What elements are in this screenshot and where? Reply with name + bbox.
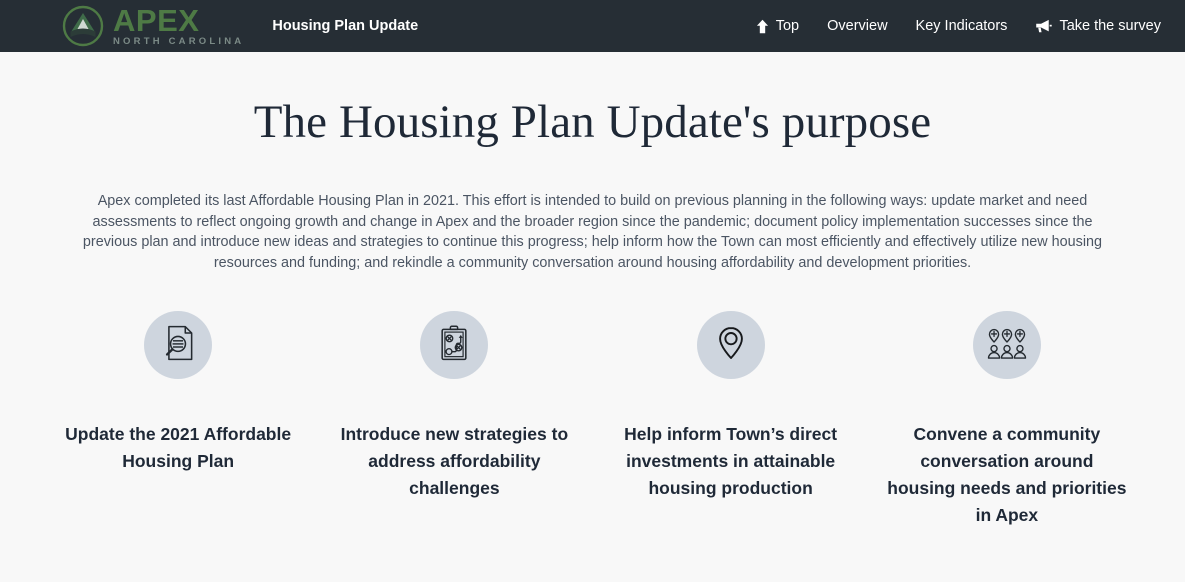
feature-column-update-plan: Update the 2021 Affordable Housing Plan — [40, 311, 316, 529]
main-content: The Housing Plan Update's purpose Apex c… — [0, 95, 1185, 529]
feature-columns: Update the 2021 Affordable Housing Plan — [0, 311, 1185, 529]
top-navigation-bar: APEX NORTH CAROLINA Housing Plan Update … — [0, 0, 1185, 52]
logo-wordmark: APEX — [113, 6, 244, 35]
community-pins-people-icon — [986, 324, 1028, 367]
feature-title: Help inform Town’s direct investments in… — [611, 421, 851, 502]
feature-column-new-strategies: Introduce new strategies to address affo… — [316, 311, 592, 529]
apex-emblem-icon — [62, 5, 104, 47]
site-title: Housing Plan Update — [272, 18, 418, 34]
page-title: The Housing Plan Update's purpose — [0, 95, 1185, 149]
nav-link-top[interactable]: Top — [756, 18, 799, 34]
apex-north-carolina-logo[interactable]: APEX NORTH CAROLINA — [62, 5, 244, 47]
feature-title: Convene a community conversation around … — [887, 421, 1127, 529]
logo-subtext: NORTH CAROLINA — [113, 37, 244, 47]
logo-wordmark-block: APEX NORTH CAROLINA — [113, 6, 244, 47]
nav-link-take-the-survey[interactable]: Take the survey — [1035, 18, 1161, 34]
nav-links: Top Overview Key Indicators Take the sur… — [756, 18, 1161, 34]
nav-link-key-indicators[interactable]: Key Indicators — [916, 18, 1008, 34]
document-magnifier-icon — [158, 323, 198, 368]
arrow-up-icon — [756, 19, 769, 34]
feature-icon-background — [973, 311, 1041, 379]
feature-column-community-conversation: Convene a community conversation around … — [869, 311, 1145, 529]
intro-paragraph: Apex completed its last Affordable Housi… — [73, 191, 1113, 273]
feature-icon-background — [144, 311, 212, 379]
feature-title: Introduce new strategies to address affo… — [334, 421, 574, 502]
nav-link-overview-label: Overview — [827, 18, 887, 34]
nav-link-top-label: Top — [776, 18, 799, 34]
feature-icon-background — [420, 311, 488, 379]
nav-link-overview[interactable]: Overview — [827, 18, 887, 34]
feature-column-direct-investments: Help inform Town’s direct investments in… — [593, 311, 869, 529]
nav-link-take-the-survey-label: Take the survey — [1059, 18, 1161, 34]
nav-link-key-indicators-label: Key Indicators — [916, 18, 1008, 34]
brand-block[interactable]: APEX NORTH CAROLINA Housing Plan Update — [62, 5, 418, 47]
feature-icon-background — [697, 311, 765, 379]
map-pin-icon — [711, 323, 751, 368]
clipboard-strategy-icon — [434, 323, 474, 368]
bullhorn-icon — [1035, 19, 1052, 33]
feature-title: Update the 2021 Affordable Housing Plan — [58, 421, 298, 475]
